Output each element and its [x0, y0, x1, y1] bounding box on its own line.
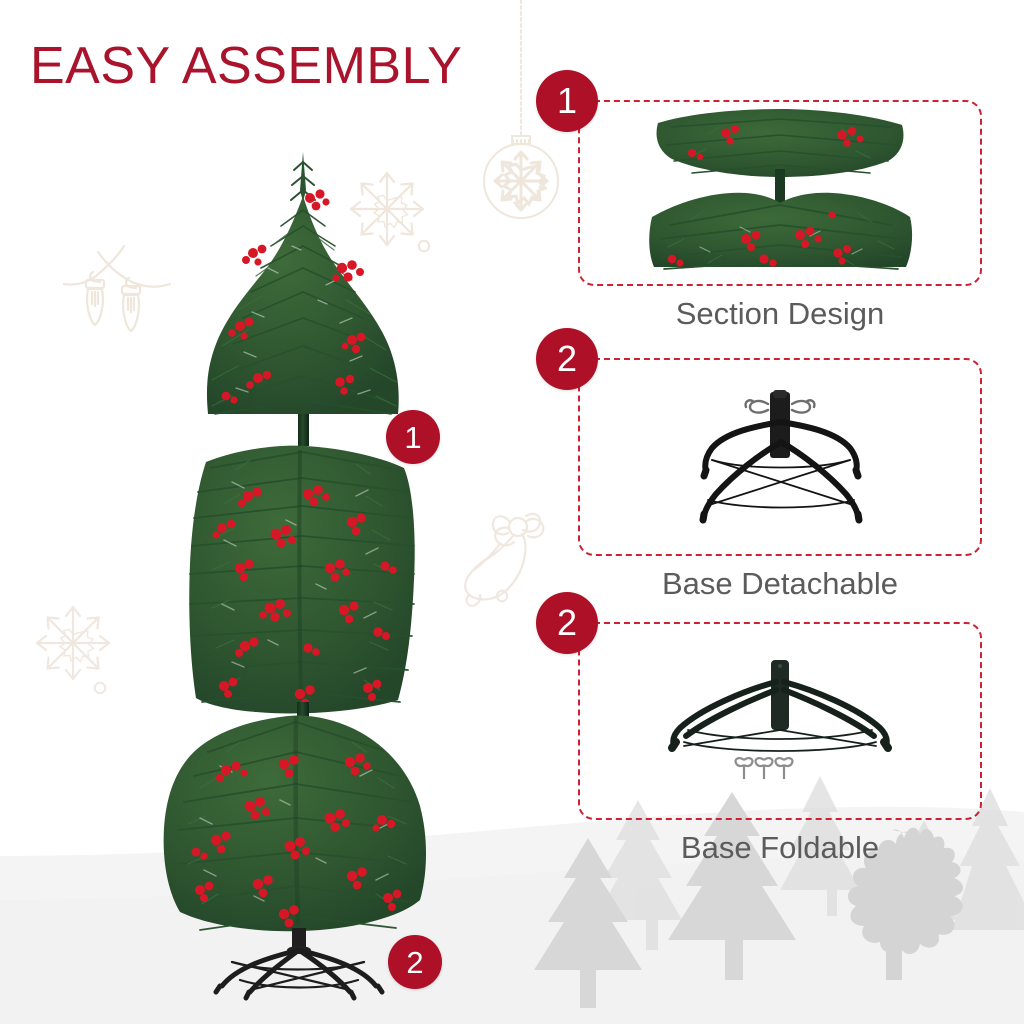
- hero-badge-2: 2: [388, 935, 442, 989]
- detachable-metal-base-photo: [578, 358, 982, 556]
- panel-1-label: Section Design: [578, 296, 982, 332]
- tree-top-section: [207, 152, 399, 446]
- hero-badge-1: 1: [386, 410, 440, 464]
- panel-1-badge-number: 1: [557, 83, 577, 119]
- hero-product-illustration: 1 2: [0, 0, 520, 1024]
- wing-screws: [736, 758, 793, 779]
- infographic-canvas: EASY ASSEMBLY: [0, 0, 1024, 1024]
- feature-panel-list: 1 Section Design: [520, 0, 1024, 1024]
- panel-1-badge: 1: [536, 70, 598, 132]
- tree-metal-stand: [216, 928, 382, 998]
- section-connector-pole: [775, 169, 785, 203]
- foldable-base-illustration: [640, 646, 920, 796]
- folded-metal-base-with-screws-photo: [578, 622, 982, 820]
- hero-badge-1-number: 1: [404, 422, 421, 453]
- tree-middle-section: [189, 446, 414, 730]
- panel-3-badge-number: 2: [557, 605, 577, 641]
- artificial-christmas-tree-exploded-view: [0, 0, 520, 1024]
- tree-bottom-section: [164, 716, 426, 932]
- panel-2-label: Base Detachable: [578, 566, 982, 602]
- panel-3-label: Base Foldable: [578, 830, 982, 866]
- panel-2-badge: 2: [536, 328, 598, 390]
- tree-connector-pole-top: [298, 414, 309, 446]
- detachable-base-illustration: [650, 382, 910, 532]
- panel-3-badge: 2: [536, 592, 598, 654]
- hero-badge-2-number: 2: [406, 947, 423, 978]
- section-joint-illustration: [630, 107, 930, 279]
- panel-2-badge-number: 2: [557, 341, 577, 377]
- tree-section-joint-photo: [578, 100, 982, 286]
